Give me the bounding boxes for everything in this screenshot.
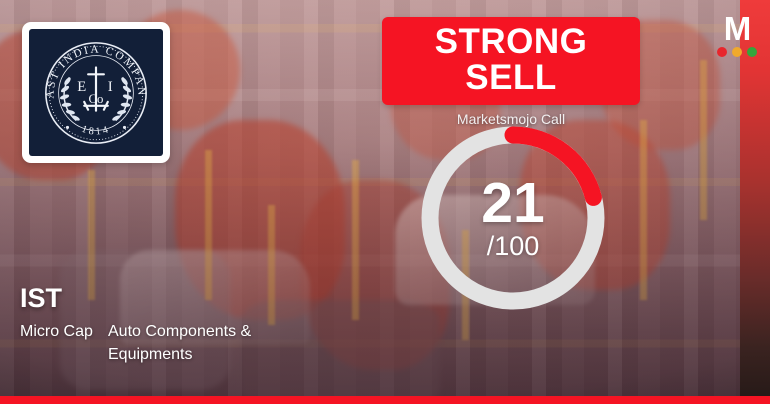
mojo-score-gauge: 21 /100 <box>417 122 609 314</box>
dot-amber-icon <box>732 47 742 57</box>
gauge-score-total: /100 <box>487 232 540 260</box>
gauge-score-value: 21 <box>481 177 544 229</box>
svg-text:Co: Co <box>89 91 104 105</box>
call-verdict-badge: STRONG SELL <box>382 17 640 105</box>
stock-identity-block: IST Micro Cap Auto Components & Equipmen… <box>20 283 350 366</box>
logo-dots <box>710 47 764 57</box>
marketsmojo-stock-call-card: M EAST INDIA COMPANY 1 <box>0 0 770 404</box>
gauge-readout: 21 /100 <box>417 122 609 314</box>
stock-ticker: IST <box>20 283 350 313</box>
company-logo-background: EAST INDIA COMPANY 1814 <box>29 29 163 156</box>
marketsmojo-call-block: STRONG SELL Marketsmojo Call <box>382 17 640 128</box>
svg-text:1814: 1814 <box>80 123 112 137</box>
market-cap-label: Micro Cap <box>20 320 108 366</box>
east-india-company-seal-icon: EAST INDIA COMPANY 1814 <box>37 34 155 152</box>
dot-green-icon <box>747 47 757 57</box>
sector-label: Auto Components & Equipments <box>108 320 288 366</box>
stock-meta-row: Micro Cap Auto Components & Equipments <box>20 320 350 366</box>
company-logo-card: EAST INDIA COMPANY 1814 <box>22 22 170 163</box>
svg-text:I: I <box>108 79 113 95</box>
logo-letter-m: M <box>710 14 764 44</box>
marketsmojo-logo: M <box>710 14 764 60</box>
bottom-accent-bar <box>0 396 770 404</box>
dot-red-icon <box>717 47 727 57</box>
svg-text:E: E <box>77 79 86 95</box>
